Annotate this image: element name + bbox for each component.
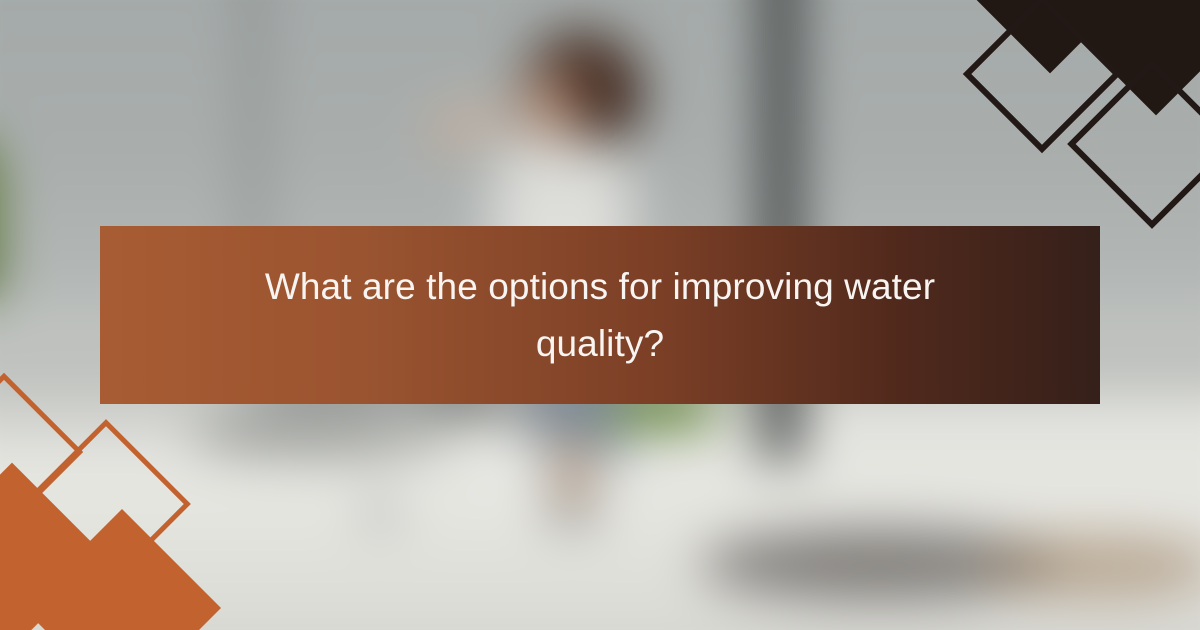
decoration-bottom-left <box>0 410 230 630</box>
photo-ladder-caster <box>364 496 398 526</box>
headline-banner: What are the options for improving water… <box>100 226 1100 404</box>
photo-person-shoe <box>546 496 598 522</box>
decoration-top-right <box>970 0 1200 200</box>
poster-canvas: What are the options for improving water… <box>0 0 1200 630</box>
headline-text: What are the options for improving water… <box>216 258 984 373</box>
